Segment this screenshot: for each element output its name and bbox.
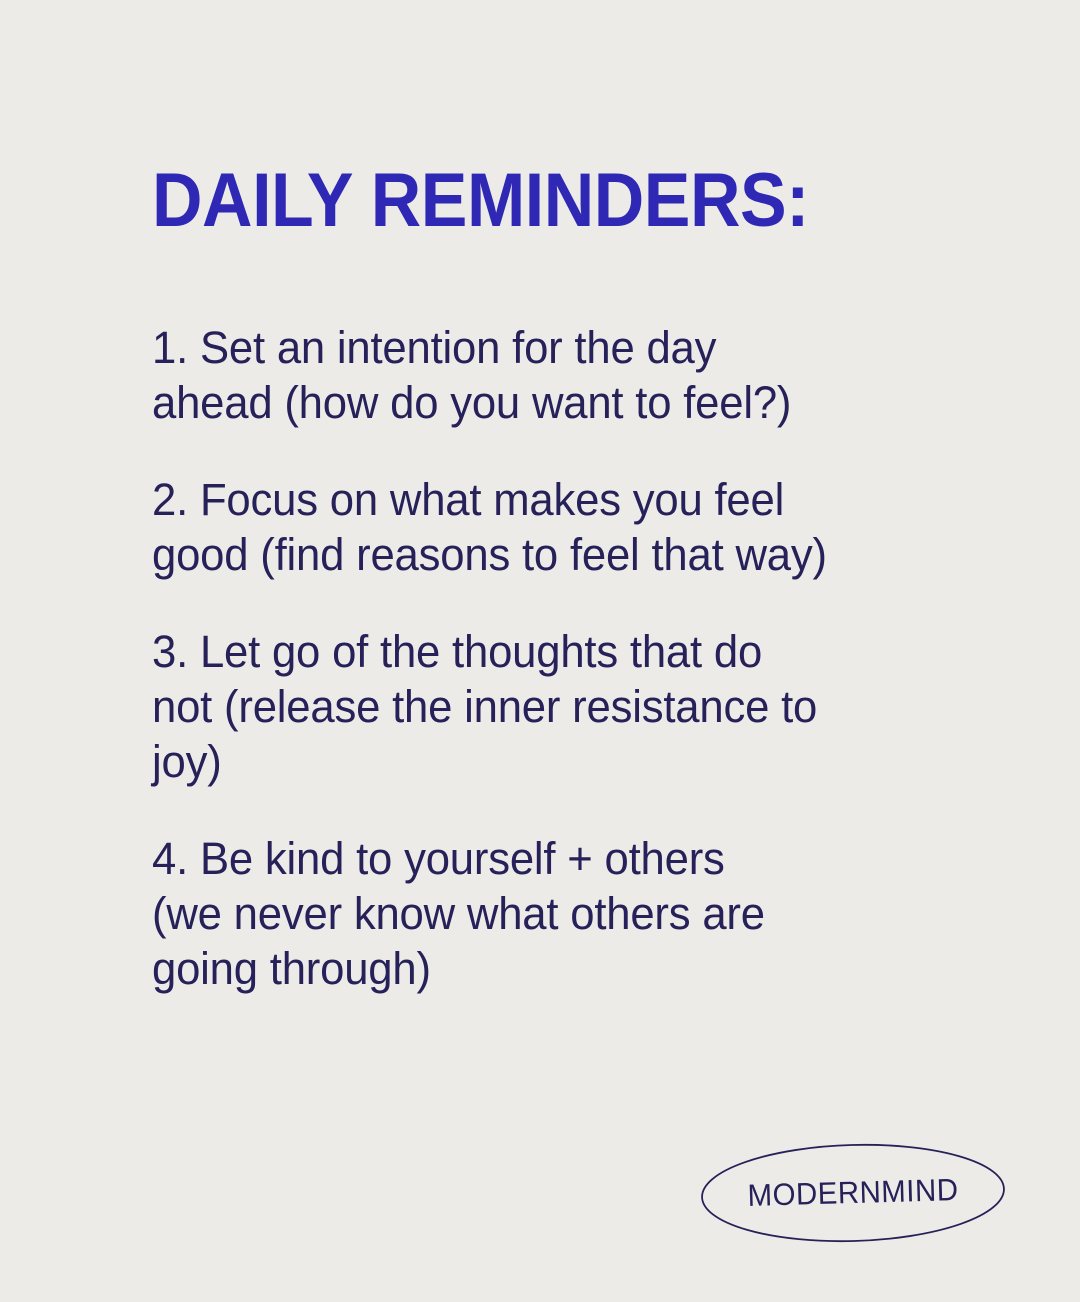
page-title: DAILY REMINDERS: <box>152 160 809 242</box>
list-item: 1. Set an intention for the day ahead (h… <box>152 320 918 430</box>
brand-name: MODERNMIND <box>706 1139 999 1247</box>
brand-badge: MODERNMIND <box>699 1139 1008 1248</box>
list-item: 4. Be kind to yourself + others (we neve… <box>152 831 918 996</box>
list-item: 3. Let go of the thoughts that do not (r… <box>152 624 918 789</box>
poster-canvas: DAILY REMINDERS: 1. Set an intention for… <box>0 0 1080 1302</box>
list-item: 2. Focus on what makes you feel good (fi… <box>152 472 918 582</box>
reminders-list: 1. Set an intention for the day ahead (h… <box>152 320 942 996</box>
